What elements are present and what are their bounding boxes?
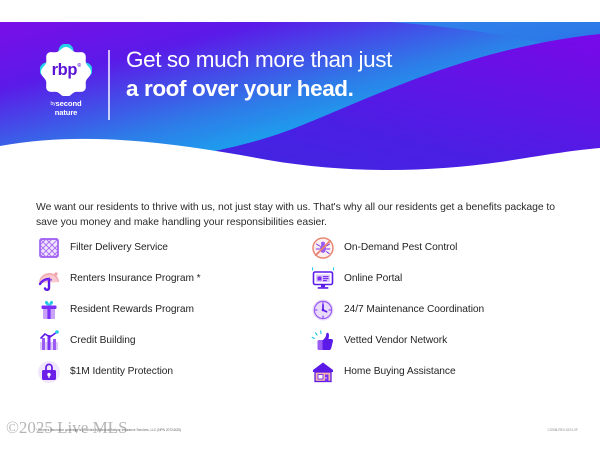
credit-chart-icon (36, 328, 62, 354)
hero-divider (108, 50, 110, 120)
benefit-item: Vetted Vendor Network (310, 325, 564, 356)
footer-disclaimer: * Renters insurance coverage is provided… (36, 428, 181, 433)
benefit-item: Filter Delivery Service (36, 232, 310, 263)
house-key-icon (310, 359, 336, 385)
benefit-label: $1M Identity Protection (70, 365, 173, 378)
benefit-item: Credit Building (36, 325, 310, 356)
benefit-label: Home Buying Assistance (344, 365, 456, 378)
logo-subtitle: bysecond nature (35, 99, 97, 117)
logo-sub-line2: nature (55, 108, 78, 117)
logo-badge: rbp® (40, 44, 92, 96)
filter-icon (36, 235, 62, 261)
hero-banner: rbp® bysecond nature Get so much more th… (0, 22, 600, 174)
benefit-item: Home Buying Assistance (310, 356, 564, 387)
headline-line-1: Get so much more than just (126, 46, 392, 74)
benefit-label: Credit Building (70, 334, 136, 347)
benefit-label: Filter Delivery Service (70, 241, 168, 254)
no-pest-icon (310, 235, 336, 261)
footer: * Renters insurance coverage is provided… (0, 425, 600, 443)
benefits-column-left: Filter Delivery Service Renters Insuranc… (36, 232, 310, 387)
monitor-icon (310, 266, 336, 292)
benefit-label: Vetted Vendor Network (344, 334, 447, 347)
benefit-label: Renters Insurance Program * (70, 272, 201, 285)
top-margin (0, 0, 600, 22)
flyer-page: rbp® bysecond nature Get so much more th… (0, 0, 600, 450)
benefit-item: Resident Rewards Program (36, 294, 310, 325)
clock-icon (310, 297, 336, 323)
benefits-column-right: On-Demand Pest Control (310, 232, 564, 387)
logo-wordmark: rbp® (40, 44, 92, 96)
lock-briefcase-icon (36, 359, 62, 385)
umbrella-icon (36, 266, 62, 292)
benefit-item: 24/7 Maintenance Coordination (310, 294, 564, 325)
rbp-logo: rbp® bysecond nature (35, 44, 97, 128)
intro-paragraph: We want our residents to thrive with us,… (36, 200, 556, 230)
benefit-item: $1M Identity Protection (36, 356, 310, 387)
benefit-label: Resident Rewards Program (70, 303, 194, 316)
footer-doc-code: CS008-REV-0224-VF (548, 428, 578, 433)
gift-icon (36, 297, 62, 323)
hero-content: rbp® bysecond nature Get so much more th… (0, 22, 600, 174)
headline-line-2: a roof over your head. (126, 75, 392, 103)
logo-sub-line1: second (56, 99, 82, 108)
logo-sub-by: by (50, 101, 55, 107)
thumbs-up-icon (310, 328, 336, 354)
benefits-grid: Filter Delivery Service Renters Insuranc… (36, 232, 564, 387)
benefit-label: Online Portal (344, 272, 402, 285)
benefit-item: Online Portal (310, 263, 564, 294)
benefit-label: 24/7 Maintenance Coordination (344, 303, 484, 316)
benefit-item: On-Demand Pest Control (310, 232, 564, 263)
benefit-label: On-Demand Pest Control (344, 241, 457, 254)
hero-headline: Get so much more than just a roof over y… (126, 46, 392, 103)
benefit-item: Renters Insurance Program * (36, 263, 310, 294)
